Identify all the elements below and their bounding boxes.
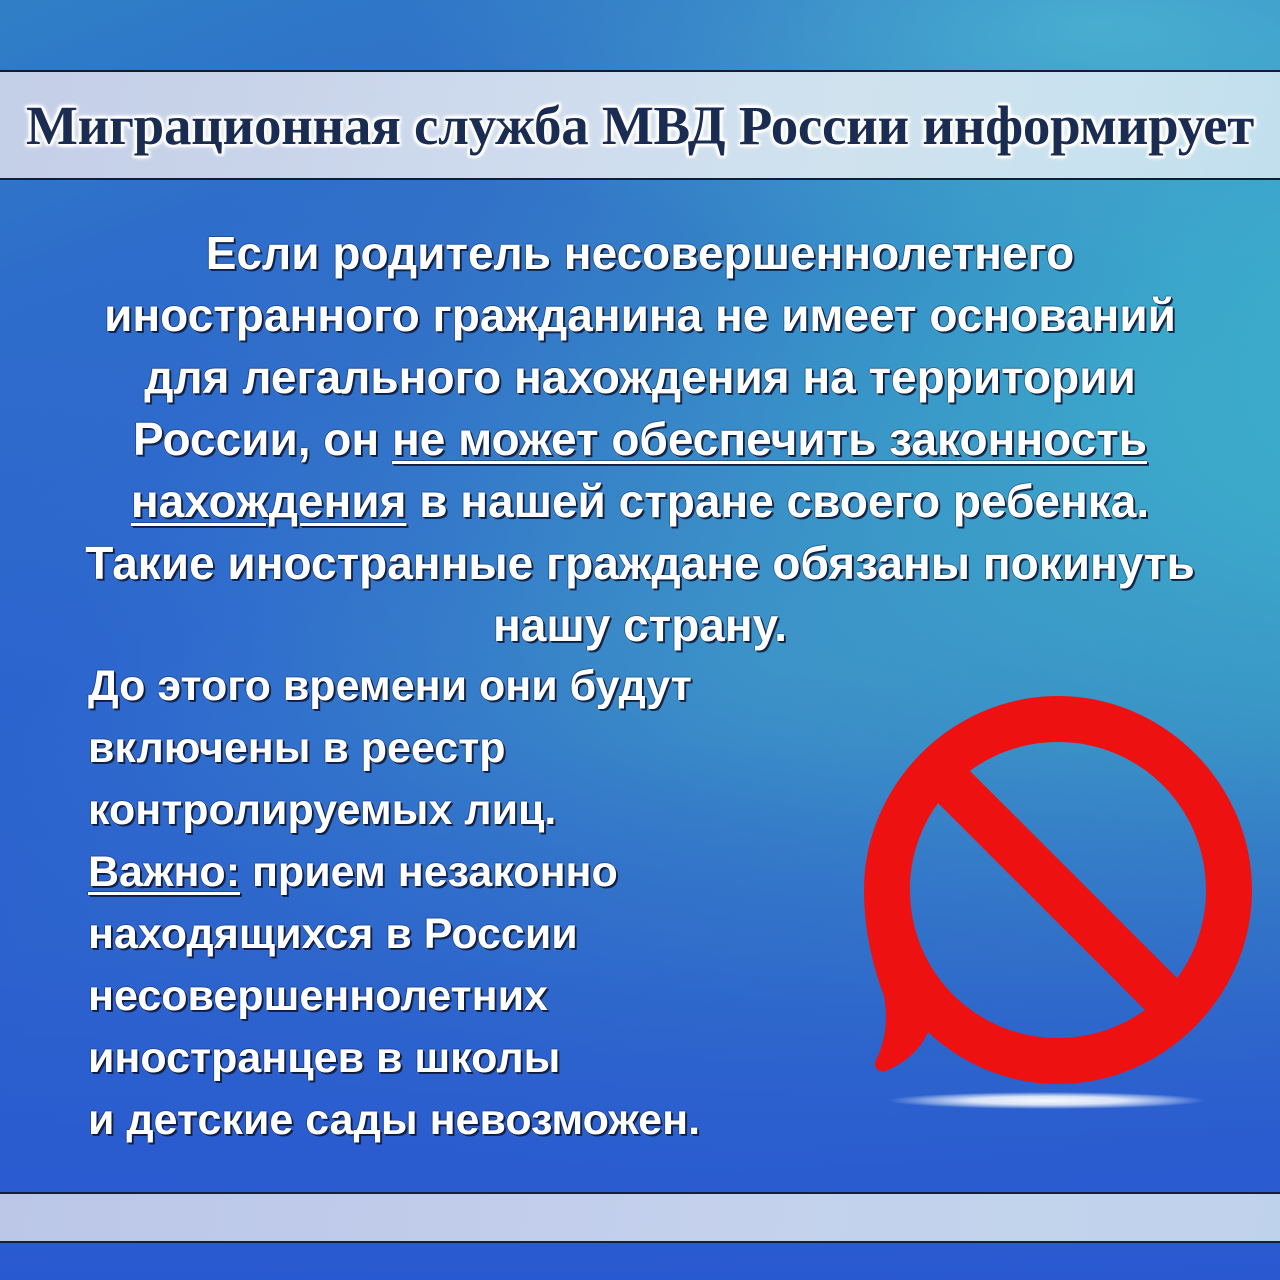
paragraph-line-2: иностранного гражданина не имеет основан… bbox=[104, 289, 1176, 341]
left-paragraph-line-2: включены в реестр bbox=[88, 724, 506, 772]
left-paragraph-line-1: До этого времени они будут bbox=[88, 662, 692, 710]
page-title: Миграционная служба МВД России информиру… bbox=[26, 98, 1254, 153]
paragraph-line-4-underlined: не может обеспечить законность bbox=[392, 413, 1147, 465]
left-paragraph-line-4-underlined: Важно: bbox=[88, 848, 240, 896]
left-paragraph-line-3: контролируемых лиц. bbox=[88, 786, 556, 834]
prohibition-sign-shadow bbox=[888, 1092, 1206, 1109]
header-band: Миграционная служба МВД России информиру… bbox=[0, 70, 1280, 180]
paragraph-line-5-underlined: нахождения bbox=[131, 475, 407, 527]
paragraph-line-6: Такие иностранные граждане обязаны покин… bbox=[85, 537, 1195, 589]
poster-root: Миграционная служба МВД России информиру… bbox=[0, 0, 1280, 1280]
prohibition-speech-bubble-icon bbox=[858, 690, 1258, 1090]
footer-band bbox=[0, 1192, 1280, 1243]
paragraph-line-3: для легального нахождения на территории bbox=[144, 351, 1136, 403]
paragraph-line-1: Если родитель несовершеннолетнего bbox=[206, 227, 1074, 279]
paragraph-line-5-plain: в нашей стране своего ребенка. bbox=[406, 475, 1149, 527]
paragraph-line-7: нашу страну. bbox=[493, 599, 787, 651]
left-paragraph-line-8: и детские сады невозможен. bbox=[88, 1096, 700, 1144]
left-paragraph-line-6: несовершеннолетних bbox=[88, 972, 548, 1020]
left-paragraph-line-7: иностранцев в школы bbox=[88, 1034, 560, 1082]
main-paragraph-centered: Если родитель несовершеннолетнего иностр… bbox=[40, 222, 1240, 656]
left-paragraph-line-5: находящихся в России bbox=[88, 910, 578, 958]
main-paragraph-left: До этого времени они будут включены в ре… bbox=[88, 655, 848, 1151]
left-paragraph-line-4-plain: прием незаконно bbox=[240, 848, 618, 896]
paragraph-line-4-plain: России, он bbox=[133, 413, 392, 465]
